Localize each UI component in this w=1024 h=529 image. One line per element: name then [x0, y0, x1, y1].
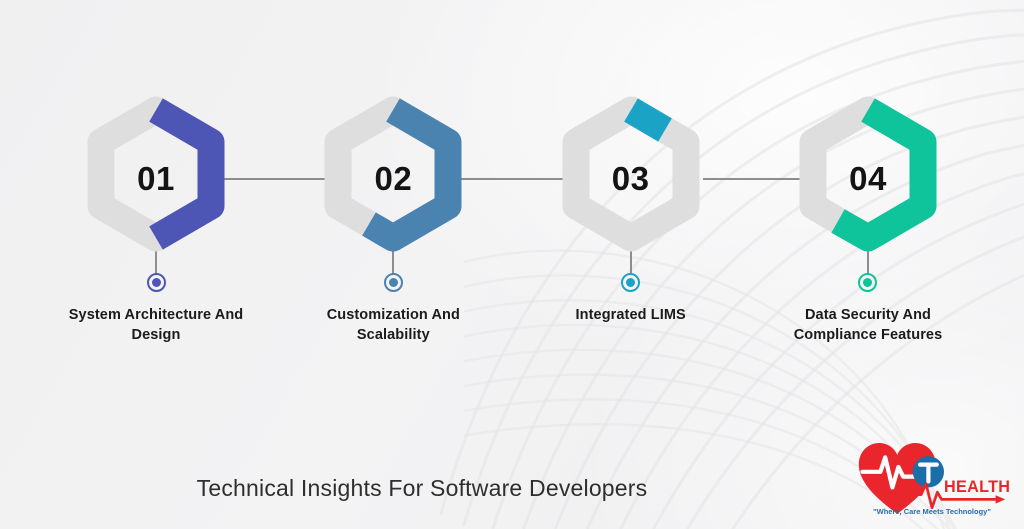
step-item-1[interactable]: 01 System Architecture And Design — [56, 96, 256, 356]
ecg-arrow-head — [996, 495, 1006, 503]
step-number-3: 03 — [612, 162, 650, 195]
step-dot-2[interactable] — [384, 273, 403, 292]
step-item-2[interactable]: 02 Customization And Scalability — [293, 96, 493, 356]
step-label-3: Integrated LIMS — [526, 306, 736, 326]
step-dot-1[interactable] — [147, 273, 166, 292]
step-dot-core-4 — [863, 278, 872, 287]
hexagon-badge-3: 03 — [555, 96, 707, 260]
step-dot-core-3 — [626, 278, 635, 287]
step-item-3[interactable]: 03 Integrated LIMS — [531, 96, 731, 356]
step-dot-core-1 — [152, 278, 161, 287]
step-dot-3[interactable] — [621, 273, 640, 292]
step-number-1: 01 — [137, 162, 175, 195]
steps-row: 01 System Architecture And Design 02 Cus… — [0, 96, 1024, 356]
hexagon-progress-3 — [631, 110, 665, 130]
step-number-2: 02 — [374, 162, 412, 195]
logo-tagline: "Where, Care Meets Technology" — [873, 507, 991, 516]
step-dot-core-2 — [389, 278, 398, 287]
step-label-4: Data Security And Compliance Features — [763, 306, 973, 345]
hexagon-badge-4: 04 — [792, 96, 944, 260]
logo-brand-text: HEALTHRAY — [944, 478, 1010, 496]
hexagon-badge-2: 02 — [317, 96, 469, 260]
step-label-1: System Architecture And Design — [51, 306, 261, 345]
step-label-2: Customization And Scalability — [288, 306, 498, 345]
healthray-logo[interactable]: HEALTHRAY "Where, Care Meets Technology" — [854, 437, 1010, 521]
hexagon-badge-1: 01 — [80, 96, 232, 260]
step-number-4: 04 — [849, 162, 887, 195]
step-item-4[interactable]: 04 Data Security And Compliance Features — [768, 96, 968, 356]
step-dot-4[interactable] — [858, 273, 877, 292]
